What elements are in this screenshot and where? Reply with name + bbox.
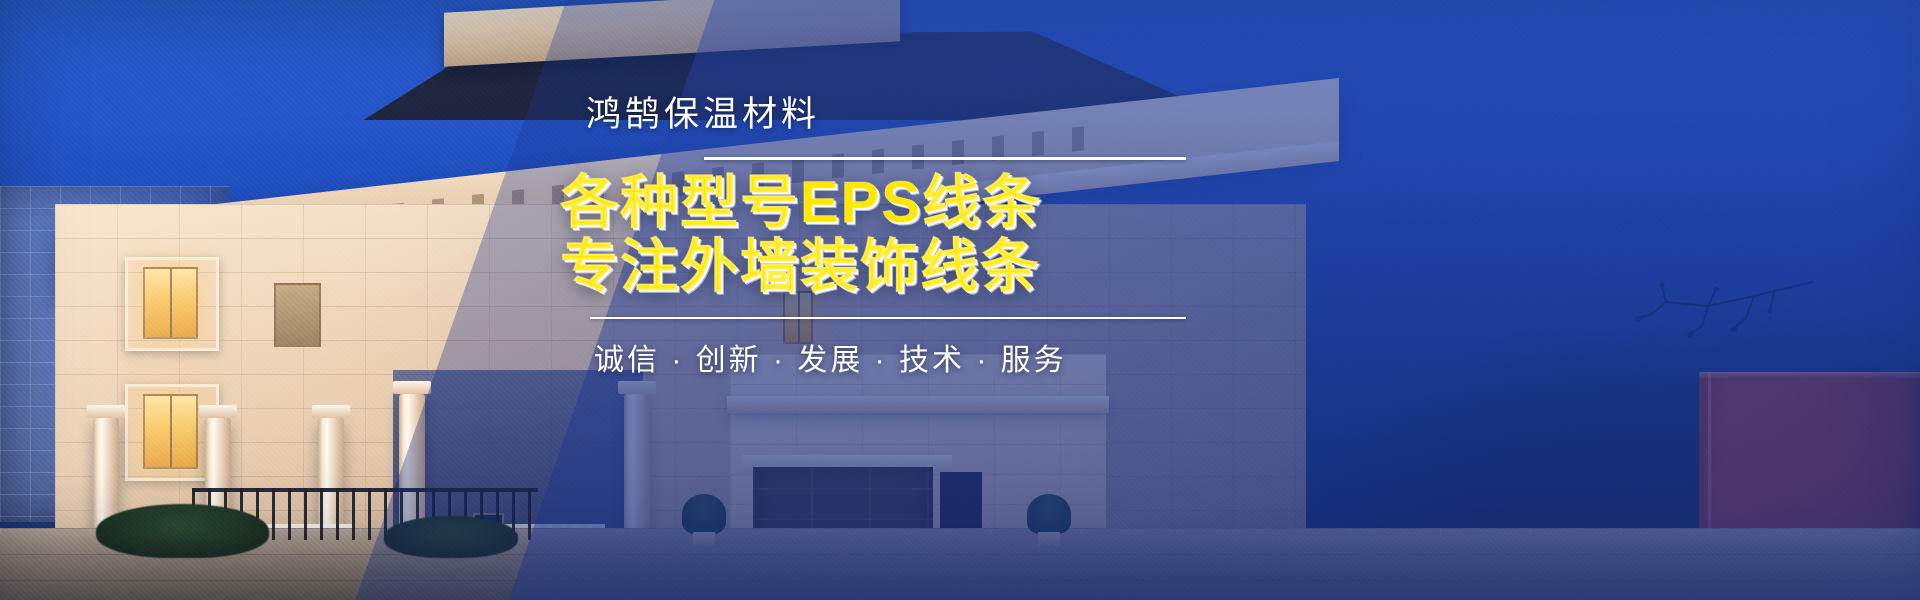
headline-line-2: 专注外墙装饰线条: [560, 236, 1252, 299]
hedge: [96, 504, 269, 558]
promo-banner: 鸿鹄保温材料 各种型号EPS线条 专注外墙装饰线条 诚信 · 创新 · 发展 ·…: [0, 0, 1920, 600]
hedge: [384, 516, 518, 558]
planter-urn: [682, 494, 726, 534]
tagline: 诚信 · 创新 · 发展 · 技术 · 服务: [594, 335, 1252, 379]
wing-cornice: [727, 396, 1110, 413]
divider-upper: [704, 157, 1186, 160]
headline-line-1: 各种型号EPS线条: [560, 172, 1252, 235]
planter-urn: [1027, 494, 1071, 534]
brand-name: 鸿鹄保温材料: [586, 96, 1252, 135]
divider-lower: [590, 317, 1186, 319]
